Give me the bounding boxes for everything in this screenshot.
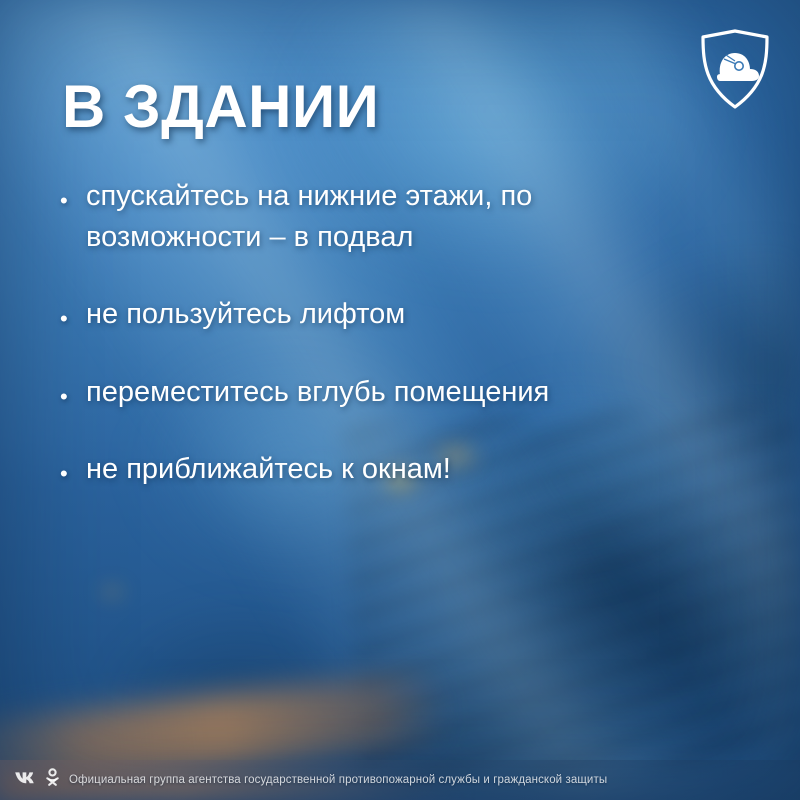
list-item: • не пользуйтесь лифтом	[60, 294, 720, 335]
bullet-marker-icon: •	[60, 176, 86, 212]
list-item: • спускайтесь на нижние этажи, по возмож…	[60, 176, 720, 258]
list-item: • не приближайтесь к окнам!	[60, 449, 720, 490]
odnoklassniki-icon[interactable]	[45, 768, 60, 792]
list-item: • переместитесь вглубь помещения	[60, 372, 720, 413]
bullet-marker-icon: •	[60, 294, 86, 330]
bullet-marker-icon: •	[60, 372, 86, 408]
vk-icon[interactable]	[14, 771, 36, 790]
safety-infographic-poster: В ЗДАНИИ • спускайтесь на нижние этажи, …	[0, 0, 800, 800]
shield-firefighter-helmet-icon	[698, 28, 772, 110]
list-item-label: спускайтесь на нижние этажи, по возможно…	[86, 176, 686, 258]
page-title: В ЗДАНИИ	[62, 76, 379, 137]
bullet-marker-icon: •	[60, 449, 86, 485]
footer-bar: Официальная группа агентства государстве…	[0, 760, 800, 800]
list-item-label: переместитесь вглубь помещения	[86, 372, 549, 413]
advice-list: • спускайтесь на нижние этажи, по возмож…	[60, 176, 720, 526]
footer-label: Официальная группа агентства государстве…	[69, 774, 607, 786]
poster-content: В ЗДАНИИ • спускайтесь на нижние этажи, …	[0, 0, 800, 800]
list-item-label: не приближайтесь к окнам!	[86, 449, 451, 490]
list-item-label: не пользуйтесь лифтом	[86, 294, 405, 335]
